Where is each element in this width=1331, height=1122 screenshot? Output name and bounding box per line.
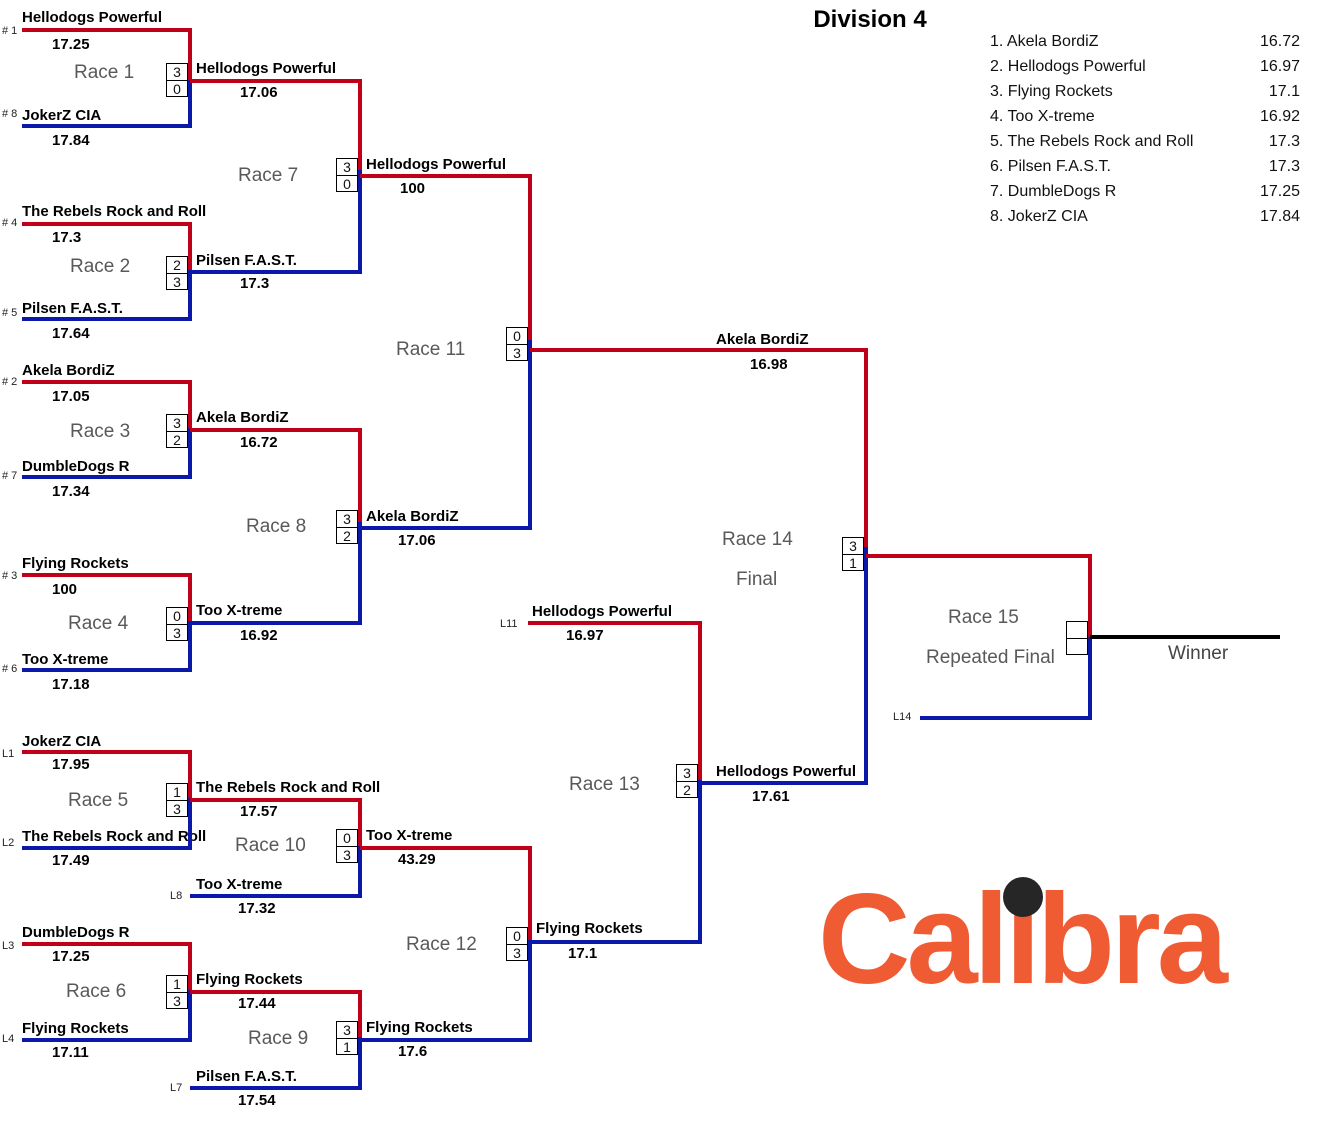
- score-box-race-13: 3 2: [676, 764, 698, 798]
- score-box-race-14: 3 1: [842, 537, 864, 571]
- bracket-line: [360, 174, 532, 178]
- bracket-line: [1090, 635, 1280, 639]
- bracket-line: [22, 942, 192, 946]
- score-box-race-5: 1 3: [166, 783, 188, 817]
- winner-time: 17.61: [752, 789, 790, 804]
- bracket-line: [1088, 637, 1092, 720]
- score-box-race-1: 3 0: [166, 63, 188, 97]
- entrant-name: Flying Rockets: [22, 1021, 129, 1036]
- bracket-line: [22, 124, 192, 128]
- entrant-time: 17.32: [238, 901, 276, 916]
- score-bottom: 2: [677, 782, 697, 798]
- winner-name: The Rebels Rock and Roll: [196, 780, 380, 795]
- bracket-line: [190, 428, 362, 432]
- winner-name: Too X-treme: [196, 603, 282, 618]
- winner-name: Akela BordiZ: [716, 332, 809, 347]
- bracket-line: [528, 174, 532, 341]
- bracket-line: [188, 798, 192, 849]
- race-label: Race 5: [68, 790, 128, 812]
- bracket-line: [358, 522, 362, 625]
- score-bottom: 3: [167, 274, 187, 290]
- seed-time: 17.84: [1260, 208, 1300, 226]
- entrant-time: 17.11: [52, 1045, 89, 1060]
- seed-label-l4: L4: [2, 1033, 14, 1045]
- seed-label-l2: L2: [2, 837, 14, 849]
- race-label: Race 11: [396, 339, 465, 361]
- bracket-line: [190, 1086, 362, 1090]
- seed-name: 5. The Rebels Rock and Roll: [990, 133, 1193, 151]
- bracket-line: [22, 846, 192, 850]
- race-label: Race 15: [948, 607, 1019, 629]
- bracket-line: [188, 942, 192, 992]
- bracket-line: [190, 894, 362, 898]
- score-top: 3: [677, 765, 697, 782]
- bracket-line: [360, 1038, 532, 1042]
- score-top: [1067, 622, 1087, 639]
- winner-label: Winner: [1168, 643, 1228, 665]
- score-bottom: 3: [167, 801, 187, 817]
- entrant-time: 17.49: [52, 853, 90, 868]
- bracket-line: [866, 554, 1092, 558]
- bracket-line: [22, 1038, 192, 1042]
- seed-name: 8. JokerZ CIA: [990, 208, 1088, 226]
- winner-time: 17.06: [240, 85, 278, 100]
- entrant-name: Flying Rockets: [22, 556, 129, 571]
- bracket-line: [188, 380, 192, 430]
- bracket-line: [188, 990, 192, 1041]
- bracket-line: [188, 28, 192, 80]
- seed-row: 5. The Rebels Rock and Roll 17.3: [990, 133, 1300, 158]
- score-box-race-6: 1 3: [166, 975, 188, 1009]
- score-bottom: 3: [337, 847, 357, 863]
- score-box-race-9: 3 1: [336, 1021, 358, 1055]
- bracket-line: [358, 990, 362, 1038]
- bracket-line: [188, 222, 192, 272]
- seed-name: 1. Akela BordiZ: [990, 33, 1099, 51]
- seed-label-8: # 8: [2, 108, 17, 120]
- entrant-name: Too X-treme: [22, 652, 108, 667]
- bracket-line: [358, 170, 362, 274]
- winner-time: 17.57: [240, 804, 278, 819]
- seed-time: 17.3: [1269, 133, 1300, 151]
- winner-time: 16.92: [240, 628, 278, 643]
- winner-name: Flying Rockets: [366, 1020, 473, 1035]
- entrant-name: DumbleDogs R: [22, 925, 130, 940]
- seed-label-2: # 2: [2, 376, 17, 388]
- entrant-time: 17.18: [52, 677, 90, 692]
- score-top: 3: [337, 1022, 357, 1039]
- race-label: Race 6: [66, 981, 126, 1003]
- score-box-race-15: [1066, 621, 1088, 655]
- bracket-line: [700, 781, 868, 785]
- calibra-logo: Calibra: [818, 877, 1228, 1002]
- race-label: Race 9: [248, 1028, 308, 1050]
- bracket-line: [22, 475, 192, 479]
- winner-time: 16.72: [240, 435, 278, 450]
- bracket-line: [22, 317, 192, 321]
- entrant-time: 17.25: [52, 37, 90, 52]
- entrant-name: DumbleDogs R: [22, 459, 130, 474]
- score-bottom: 0: [337, 176, 357, 192]
- score-top: 2: [167, 257, 187, 274]
- bracket-line: [188, 750, 192, 800]
- winner-name: Hellodogs Powerful: [196, 61, 336, 76]
- winner-time: 16.98: [750, 357, 788, 372]
- score-top: 3: [843, 538, 863, 555]
- winner-name: Flying Rockets: [536, 921, 643, 936]
- race-label: Race 14: [722, 529, 793, 551]
- bracket-line: [528, 621, 702, 625]
- seed-label-1: # 1: [2, 25, 17, 37]
- entrant-time: 17.64: [52, 326, 90, 341]
- seeding-list: 1. Akela BordiZ 16.72 2. Hellodogs Power…: [990, 33, 1300, 233]
- bracket-line: [188, 270, 192, 321]
- bracket-line: [698, 621, 702, 781]
- score-bottom: 1: [337, 1039, 357, 1055]
- entrant-time: 17.95: [52, 757, 90, 772]
- bracket-line: [358, 846, 362, 896]
- bracket-line: [358, 428, 362, 523]
- bracket-line: [22, 573, 192, 577]
- seed-time: 17.25: [1260, 183, 1300, 201]
- score-top: 3: [337, 159, 357, 176]
- winner-time: 43.29: [398, 852, 436, 867]
- seed-row: 3. Flying Rockets 17.1: [990, 83, 1300, 108]
- score-box-race-10: 0 3: [336, 829, 358, 863]
- winner-name: Too X-treme: [366, 828, 452, 843]
- race-label: Race 12: [406, 934, 477, 956]
- bracket-line: [190, 270, 362, 274]
- seed-time: 16.92: [1260, 108, 1300, 126]
- winner-time: 17.06: [398, 533, 436, 548]
- entrant-name: Hellodogs Powerful: [22, 10, 162, 25]
- winner-time: 17.1: [568, 946, 597, 961]
- entrant-time: 100: [52, 582, 77, 597]
- bracket-line: [528, 846, 532, 944]
- seed-label-l11: L11: [500, 618, 518, 630]
- race-label: Race 2: [70, 256, 130, 278]
- bracket-line: [22, 28, 192, 32]
- seed-label-l8: L8: [170, 890, 182, 902]
- entrant-name: The Rebels Rock and Roll: [22, 829, 206, 844]
- entrant-name: JokerZ CIA: [22, 108, 101, 123]
- bracket-line: [22, 668, 192, 672]
- score-box-race-8: 3 2: [336, 510, 358, 544]
- bracket-line: [864, 547, 868, 781]
- bracket-line: [188, 573, 192, 623]
- bracket-line: [360, 846, 532, 850]
- entrant-time: 17.25: [52, 949, 90, 964]
- bracket-line: [530, 348, 868, 352]
- bracket-line: [528, 940, 532, 1040]
- score-top: 3: [167, 64, 187, 81]
- winner-time: 100: [400, 181, 425, 196]
- race-label: Race 7: [238, 165, 298, 187]
- score-top: 0: [167, 608, 187, 625]
- entrant-name: Pilsen F.A.S.T.: [196, 1069, 297, 1084]
- race-label: Race 3: [70, 421, 130, 443]
- score-box-race-12: 0 3: [506, 927, 528, 961]
- bracket-line: [22, 750, 192, 754]
- seed-label-l7: L7: [170, 1082, 182, 1094]
- seed-label-4: # 4: [2, 217, 17, 229]
- seed-name: 7. DumbleDogs R: [990, 183, 1116, 201]
- bracket-line: [864, 348, 868, 548]
- score-top: 1: [167, 976, 187, 993]
- score-bottom: 3: [167, 625, 187, 641]
- bracket-line: [358, 798, 362, 848]
- winner-name: Hellodogs Powerful: [366, 157, 506, 172]
- score-top: 0: [337, 830, 357, 847]
- entrant-time: 17.34: [52, 484, 90, 499]
- bracket-line: [22, 222, 192, 226]
- winner-time: 17.3: [240, 276, 269, 291]
- seed-label-l3: L3: [2, 940, 14, 952]
- bracket-line: [698, 780, 702, 940]
- race-label: Race 10: [235, 835, 306, 857]
- entrant-name: The Rebels Rock and Roll: [22, 204, 206, 219]
- score-bottom: 3: [507, 945, 527, 961]
- entrant-name: Pilsen F.A.S.T.: [22, 301, 123, 316]
- seed-row: 1. Akela BordiZ 16.72: [990, 33, 1300, 58]
- seed-time: 16.72: [1260, 33, 1300, 51]
- race-label: Race 1: [74, 62, 134, 84]
- seed-row: 4. Too X-treme 16.92: [990, 108, 1300, 133]
- entrant-name: Akela BordiZ: [22, 363, 115, 378]
- score-top: 1: [167, 784, 187, 801]
- entrant-name: Hellodogs Powerful: [532, 604, 672, 619]
- bracket-line: [358, 1037, 362, 1088]
- score-box-race-2: 2 3: [166, 256, 188, 290]
- race-label: Race 13: [569, 774, 640, 796]
- score-top: 0: [507, 928, 527, 945]
- winner-name: Hellodogs Powerful: [716, 764, 856, 779]
- seed-name: 3. Flying Rockets: [990, 83, 1113, 101]
- entrant-time: 17.84: [52, 133, 90, 148]
- score-box-race-11: 0 3: [506, 327, 528, 361]
- bracket-line: [188, 80, 192, 128]
- race-sublabel: Repeated Final: [926, 647, 1055, 669]
- bracket-line: [358, 79, 362, 171]
- bracket-line: [360, 526, 532, 530]
- bracket-canvas: Division 4 1. Akela BordiZ 16.72 2. Hell…: [0, 0, 1331, 1122]
- race-label: Race 8: [246, 516, 306, 538]
- entrant-time: 16.97: [566, 628, 604, 643]
- bracket-line: [530, 940, 702, 944]
- score-top: 0: [507, 328, 527, 345]
- entrant-time: 17.3: [52, 230, 81, 245]
- seed-time: 16.97: [1260, 58, 1300, 76]
- winner-name: Akela BordiZ: [196, 410, 289, 425]
- score-box-race-7: 3 0: [336, 158, 358, 192]
- seed-row: 8. JokerZ CIA 17.84: [990, 208, 1300, 233]
- seed-time: 17.1: [1269, 83, 1300, 101]
- seed-row: 6. Pilsen F.A.S.T. 17.3: [990, 158, 1300, 183]
- bracket-line: [190, 798, 362, 802]
- score-bottom: 3: [507, 345, 527, 361]
- winner-name: Pilsen F.A.S.T.: [196, 253, 297, 268]
- seed-row: 2. Hellodogs Powerful 16.97: [990, 58, 1300, 83]
- race-label: Race 4: [68, 613, 128, 635]
- seed-label-6: # 6: [2, 663, 17, 675]
- score-bottom: 0: [167, 81, 187, 97]
- entrant-name: Too X-treme: [196, 877, 282, 892]
- bracket-line: [22, 380, 192, 384]
- bracket-line: [190, 621, 362, 625]
- winner-time: 17.6: [398, 1044, 427, 1059]
- score-box-race-3: 3 2: [166, 414, 188, 448]
- winner-name: Akela BordiZ: [366, 509, 459, 524]
- seed-label-5: # 5: [2, 307, 17, 319]
- winner-time: 17.44: [238, 996, 276, 1011]
- bracket-line: [920, 716, 1092, 720]
- bracket-line: [1088, 554, 1092, 638]
- score-box-race-4: 0 3: [166, 607, 188, 641]
- bracket-line: [528, 340, 532, 528]
- seed-label-l14: L14: [893, 711, 911, 723]
- score-top: 3: [337, 511, 357, 528]
- bracket-line: [190, 79, 362, 83]
- entrant-time: 17.05: [52, 389, 90, 404]
- entrant-time: 17.54: [238, 1093, 276, 1108]
- seed-time: 17.3: [1269, 158, 1300, 176]
- race-sublabel: Final: [736, 569, 777, 591]
- seed-row: 7. DumbleDogs R 17.25: [990, 183, 1300, 208]
- bracket-line: [188, 428, 192, 479]
- entrant-name: JokerZ CIA: [22, 734, 101, 749]
- winner-name: Flying Rockets: [196, 972, 303, 987]
- score-bottom: 2: [337, 528, 357, 544]
- seed-label-3: # 3: [2, 570, 17, 582]
- seed-label-l1: L1: [2, 748, 14, 760]
- seed-name: 4. Too X-treme: [990, 108, 1095, 126]
- logo-dot-icon: [1003, 877, 1043, 917]
- score-bottom: 3: [167, 993, 187, 1009]
- seed-label-7: # 7: [2, 470, 17, 482]
- seed-name: 2. Hellodogs Powerful: [990, 58, 1146, 76]
- score-top: 3: [167, 415, 187, 432]
- score-bottom: [1067, 639, 1087, 655]
- page-title: Division 4: [800, 6, 940, 34]
- bracket-line: [190, 990, 362, 994]
- bracket-line: [188, 621, 192, 672]
- seed-name: 6. Pilsen F.A.S.T.: [990, 158, 1111, 176]
- score-bottom: 2: [167, 432, 187, 448]
- score-bottom: 1: [843, 555, 863, 571]
